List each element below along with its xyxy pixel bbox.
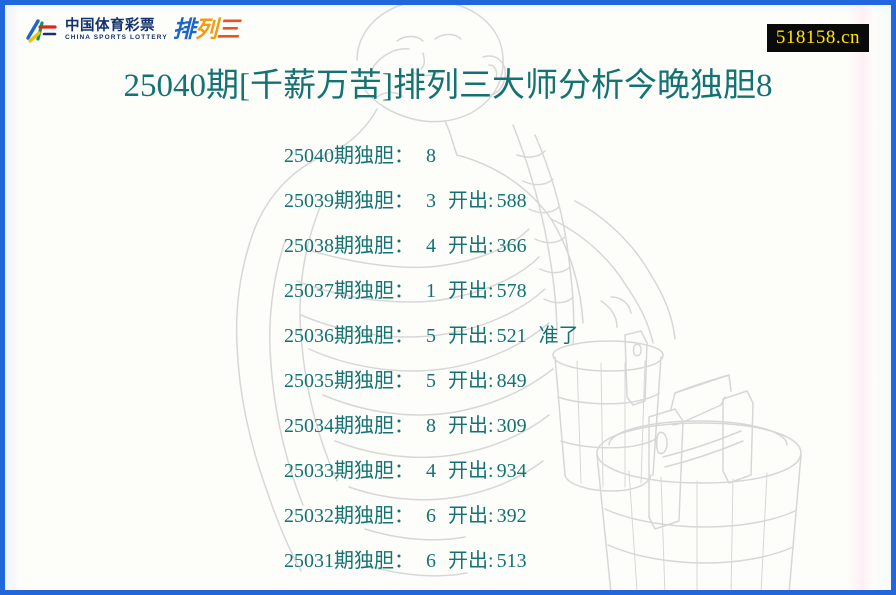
row-dan-number: 3 [426,190,436,212]
row-result-number: 849 [497,370,527,392]
row-dan-number: 8 [426,415,436,437]
prediction-row: 25031期独胆：6开出:513 [284,539,804,584]
row-issue-label: 25035期独胆： [284,370,414,392]
row-dan-number: 4 [426,235,436,257]
row-hit-note: 准了 [539,325,579,347]
sports-lottery-emblem-icon [25,16,59,44]
prediction-row: 25034期独胆：8开出:309 [284,404,804,449]
game-name-char-1: 排 [173,17,195,43]
game-name-pailiesan: 排列三 [173,17,239,43]
row-issue-label: 25036期独胆： [284,325,414,347]
site-watermark-badge: 518158.cn [767,24,869,52]
game-name-char-2: 列 [195,17,217,43]
prediction-row: 25037期独胆：1开出:578 [284,269,804,314]
prediction-list: 25040期独胆：825039期独胆：3开出:58825038期独胆：4开出:3… [284,134,804,584]
prediction-row: 25032期独胆：6开出:392 [284,494,804,539]
prediction-row: 25040期独胆：8 [284,134,804,179]
row-dan-number: 4 [426,460,436,482]
game-name-char-3: 三 [217,17,239,43]
row-issue-label: 25037期独胆： [284,280,414,302]
brand-name-en: CHINA SPORTS LOTTERY [65,34,168,42]
row-result-number: 366 [497,235,527,257]
row-dan-number: 5 [426,370,436,392]
row-issue-label: 25031期独胆： [284,550,414,572]
row-result-number: 309 [497,415,527,437]
row-issue-label: 25038期独胆： [284,235,414,257]
sports-lottery-logo: 中国体育彩票 CHINA SPORTS LOTTERY 排列三 [25,14,239,46]
row-result-label: 开出: [448,325,494,347]
row-issue-label: 25040期独胆： [284,145,414,167]
brand-text-block: 中国体育彩票 CHINA SPORTS LOTTERY [65,18,168,42]
row-result-label: 开出: [448,415,494,437]
prediction-row: 25039期独胆：3开出:588 [284,179,804,224]
row-dan-number: 6 [426,550,436,572]
row-result-number: 392 [497,505,527,527]
row-dan-number: 1 [426,280,436,302]
row-issue-label: 25033期独胆： [284,460,414,482]
page-inner-canvas: 中国体育彩票 CHINA SPORTS LOTTERY 排列三 518158.c… [5,5,891,590]
row-result-label: 开出: [448,235,494,257]
row-result-label: 开出: [448,460,494,482]
page-title: 25040期[千薪万苦]排列三大师分析今晚独胆8 [5,64,891,108]
row-result-number: 513 [497,550,527,572]
row-result-number: 588 [497,190,527,212]
row-result-number: 521 [497,325,527,347]
row-result-label: 开出: [448,550,494,572]
row-issue-label: 25039期独胆： [284,190,414,212]
row-issue-label: 25032期独胆： [284,505,414,527]
row-dan-number: 8 [426,145,436,167]
prediction-row: 25038期独胆：4开出:366 [284,224,804,269]
row-dan-number: 5 [426,325,436,347]
row-issue-label: 25034期独胆： [284,415,414,437]
prediction-row: 25036期独胆：5开出:521准了 [284,314,804,359]
prediction-row: 25035期独胆：5开出:849 [284,359,804,404]
row-result-label: 开出: [448,505,494,527]
brand-name-cn: 中国体育彩票 [65,18,168,34]
row-result-label: 开出: [448,370,494,392]
row-result-number: 934 [497,460,527,482]
site-header: 中国体育彩票 CHINA SPORTS LOTTERY 排列三 518158.c… [5,5,891,57]
lottery-prediction-page: 中国体育彩票 CHINA SPORTS LOTTERY 排列三 518158.c… [0,0,896,595]
row-result-label: 开出: [448,280,494,302]
row-result-label: 开出: [448,190,494,212]
row-result-number: 578 [497,280,527,302]
row-dan-number: 6 [426,505,436,527]
prediction-row: 25033期独胆：4开出:934 [284,449,804,494]
